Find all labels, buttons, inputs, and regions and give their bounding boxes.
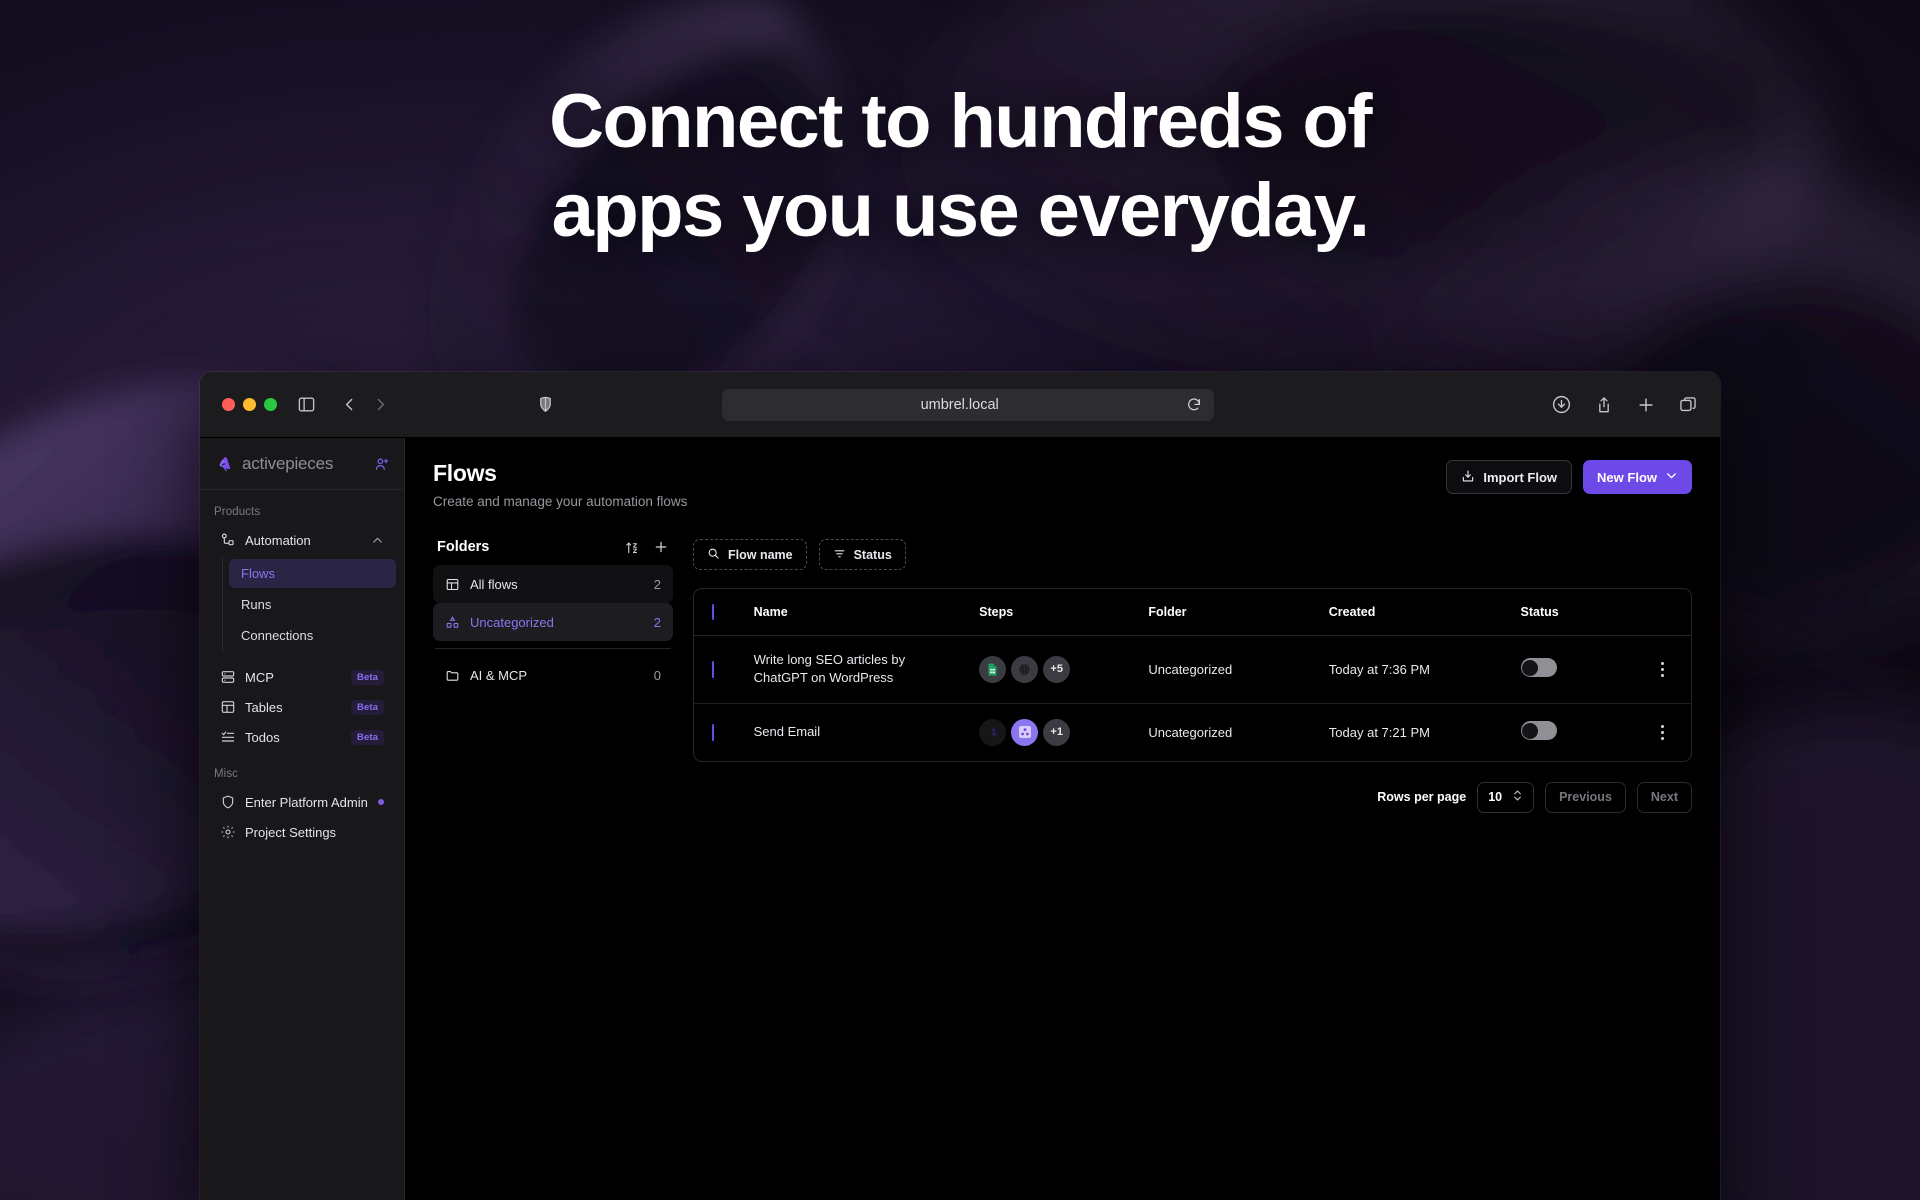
sidebar-item-project-settings-label: Project Settings: [245, 825, 384, 840]
server-stack-icon: [220, 669, 236, 685]
browser-actions: [1531, 394, 1698, 415]
tab-overview-icon[interactable]: [1678, 395, 1698, 415]
folder-row-all-flows[interactable]: All flows 2: [433, 565, 673, 603]
select-all-checkbox[interactable]: [712, 604, 714, 620]
smtp-mail-icon: [1011, 719, 1038, 746]
rows-per-page-label: Rows per page: [1377, 790, 1466, 804]
browser-toolbar: umbrel.local: [200, 372, 1720, 438]
flows-table-zone: Flow name Status: [693, 539, 1692, 813]
table-row[interactable]: Write long SEO articles by ChatGPT on Wo…: [694, 636, 1691, 704]
folders-title: Folders: [437, 539, 612, 555]
table-grid-icon: [220, 699, 236, 715]
beta-badge: Beta: [351, 700, 384, 715]
activepieces-logo-icon: [214, 454, 234, 474]
rows-per-page-value: 10: [1488, 790, 1502, 804]
browser-window: umbrel.local: [200, 372, 1720, 1200]
main-content: Flows Create and manage your automation …: [405, 438, 1720, 1200]
table-head: Name Steps Folder Created Status: [694, 589, 1691, 636]
previous-page-button[interactable]: Previous: [1545, 782, 1626, 813]
sidebar-section-products: Products: [200, 490, 404, 525]
privacy-shield-icon[interactable]: [536, 395, 555, 414]
cell-actions: [1635, 636, 1691, 704]
window-controls[interactable]: [222, 398, 277, 411]
chevron-left-icon[interactable]: [341, 396, 358, 413]
row-select-cell: [694, 636, 744, 704]
brand-header: activepieces: [200, 438, 404, 490]
row-checkbox[interactable]: [712, 724, 714, 741]
sidebar-toggle-icon[interactable]: [293, 392, 319, 418]
gear-icon: [220, 824, 236, 840]
uncategorized-icon: [445, 614, 461, 630]
chevron-down-icon[interactable]: [1665, 469, 1678, 485]
folder-icon: [445, 667, 461, 683]
beta-badge: Beta: [351, 670, 384, 685]
sidebar-item-todos-label: Todos: [245, 730, 342, 745]
import-flow-label: Import Flow: [1483, 470, 1557, 485]
filters-bar: Flow name Status: [693, 539, 1692, 570]
notification-dot: [378, 799, 384, 805]
sidebar-item-platform-admin[interactable]: Enter Platform Admin: [208, 787, 396, 817]
google-sheets-icon: [979, 656, 1006, 683]
app-viewport: activepieces Products Automation: [200, 438, 1720, 1200]
sort-icon[interactable]: [625, 540, 640, 555]
shield-icon: [220, 794, 236, 810]
table-header-row: Name Steps Folder Created Status: [694, 589, 1691, 636]
new-flow-button[interactable]: New Flow: [1583, 460, 1692, 494]
cell-actions: [1635, 703, 1691, 761]
header-actions: Import Flow New Flow: [1446, 460, 1692, 494]
row-menu-icon[interactable]: [1645, 662, 1681, 677]
row-select-cell: [694, 703, 744, 761]
brand-name: activepieces: [242, 454, 366, 474]
next-page-button[interactable]: Next: [1637, 782, 1692, 813]
folders-header: Folders: [433, 539, 673, 565]
sidebar-item-automation[interactable]: Automation: [208, 525, 396, 555]
cell-folder: Uncategorized: [1138, 703, 1318, 761]
rows-per-page-select[interactable]: 10: [1477, 782, 1534, 813]
sidebar-item-flows[interactable]: Flows: [229, 559, 396, 588]
column-header-created[interactable]: Created: [1319, 589, 1511, 636]
folder-label: All flows: [470, 577, 645, 592]
folder-label: Uncategorized: [470, 615, 645, 630]
chevron-right-icon[interactable]: [372, 396, 389, 413]
new-flow-label: New Flow: [1597, 470, 1657, 485]
search-icon: [707, 547, 720, 563]
sidebar-item-runs[interactable]: Runs: [229, 590, 396, 619]
sidebar-item-mcp[interactable]: MCP Beta: [208, 662, 396, 692]
beta-badge: Beta: [351, 730, 384, 745]
import-flow-button[interactable]: Import Flow: [1446, 460, 1572, 494]
steps-overflow-badge[interactable]: +1: [1043, 719, 1070, 746]
cell-folder: Uncategorized: [1138, 636, 1318, 704]
download-circle-icon[interactable]: [1551, 394, 1572, 415]
filter-flow-name-label: Flow name: [728, 548, 793, 562]
folder-count: 2: [654, 577, 661, 592]
folder-count: 2: [654, 615, 661, 630]
cell-name[interactable]: Send Email: [744, 703, 970, 761]
cell-steps: +1: [969, 703, 1138, 761]
step-icons: +1: [979, 719, 1128, 746]
row-checkbox[interactable]: [712, 661, 714, 678]
nav-arrows: [341, 396, 389, 413]
sidebar-item-tables[interactable]: Tables Beta: [208, 692, 396, 722]
plus-icon[interactable]: [1636, 395, 1656, 415]
status-toggle[interactable]: [1521, 721, 1557, 740]
sidebar-item-connections[interactable]: Connections: [229, 621, 396, 650]
privacy-report-area: [405, 395, 555, 414]
column-header-status[interactable]: Status: [1511, 589, 1635, 636]
flow-name-text: Write long SEO articles by ChatGPT on Wo…: [754, 651, 960, 688]
sidebar-item-mcp-label: MCP: [245, 670, 342, 685]
sidebar-item-automation-label: Automation: [245, 533, 362, 548]
cell-name[interactable]: Write long SEO articles by ChatGPT on Wo…: [744, 636, 970, 704]
sidebar-section-misc: Misc: [200, 752, 404, 787]
content-columns: Folders: [433, 539, 1692, 813]
chevron-up-down-icon: [1512, 789, 1523, 805]
page-subtitle: Create and manage your automation flows: [433, 494, 687, 509]
cell-created: Today at 7:36 PM: [1319, 636, 1511, 704]
maximize-window-button[interactable]: [264, 398, 277, 411]
automation-children: Flows Runs Connections: [222, 557, 404, 652]
table-row[interactable]: Send Email: [694, 703, 1691, 761]
filter-icon: [833, 547, 846, 563]
column-header-actions: [1635, 589, 1691, 636]
step-icons: +5: [979, 656, 1128, 683]
address-bar[interactable]: umbrel.local: [722, 389, 1214, 421]
openai-chatgpt-icon: [1011, 656, 1038, 683]
cell-status: [1511, 703, 1635, 761]
folder-count: 0: [654, 668, 661, 683]
cell-steps: +5: [969, 636, 1138, 704]
column-header-folder[interactable]: Folder: [1138, 589, 1318, 636]
workflow-nodes-icon: [220, 532, 236, 548]
plus-icon[interactable]: [653, 539, 669, 555]
sidebar-item-platform-admin-label: Enter Platform Admin: [245, 795, 369, 810]
cell-status: [1511, 636, 1635, 704]
page-title: Flows: [433, 460, 687, 487]
flow-name-text: Send Email: [754, 723, 960, 741]
row-menu-icon[interactable]: [1645, 725, 1681, 740]
table-body: Write long SEO articles by ChatGPT on Wo…: [694, 636, 1691, 761]
folder-row-ai-mcp[interactable]: AI & MCP 0: [433, 656, 673, 694]
cell-created: Today at 7:21 PM: [1319, 703, 1511, 761]
select-all-cell: [694, 589, 744, 636]
filter-flow-name[interactable]: Flow name: [693, 539, 807, 570]
steps-overflow-badge[interactable]: +5: [1043, 656, 1070, 683]
folders-divider: [435, 648, 671, 649]
reload-icon[interactable]: [1186, 397, 1202, 413]
folder-row-uncategorized[interactable]: Uncategorized 2: [433, 603, 673, 641]
column-header-name[interactable]: Name: [744, 589, 970, 636]
page-titles: Flows Create and manage your automation …: [433, 460, 687, 509]
task-list-icon: [220, 729, 236, 745]
chevron-up-icon[interactable]: [371, 534, 384, 547]
import-download-icon: [1461, 469, 1475, 486]
url-text: umbrel.local: [734, 397, 1186, 413]
sidebar-item-todos[interactable]: Todos Beta: [208, 722, 396, 752]
filter-status-label: Status: [854, 548, 892, 562]
sidebar-item-tables-label: Tables: [245, 700, 342, 715]
flows-table-card: Name Steps Folder Created Status: [693, 588, 1692, 762]
close-window-button[interactable]: [222, 398, 235, 411]
table-grid-icon: [445, 576, 461, 592]
folders-panel: Folders: [433, 539, 673, 813]
app-sidebar: activepieces Products Automation: [200, 438, 405, 1200]
user-plus-icon[interactable]: [374, 456, 390, 472]
column-header-steps[interactable]: Steps: [969, 589, 1138, 636]
folder-label: AI & MCP: [470, 668, 645, 683]
pagination-bar: Rows per page 10 Previous Next: [693, 782, 1692, 813]
share-icon[interactable]: [1594, 395, 1614, 415]
minimize-window-button[interactable]: [243, 398, 256, 411]
filter-status[interactable]: Status: [819, 539, 906, 570]
sidebar-item-project-settings[interactable]: Project Settings: [208, 817, 396, 847]
activepieces-trigger-icon: [979, 719, 1006, 746]
flows-table: Name Steps Folder Created Status: [694, 589, 1691, 761]
page-header: Flows Create and manage your automation …: [433, 460, 1692, 509]
status-toggle[interactable]: [1521, 658, 1557, 677]
